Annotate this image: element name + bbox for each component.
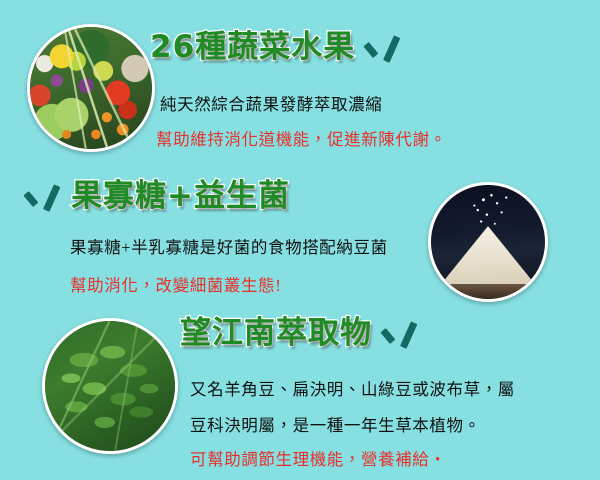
section-body-line: 純天然綜合蔬果發酵萃取濃縮 [160, 97, 382, 114]
section-body-line: 豆科決明屬，是一種一年生草本植物。 [190, 418, 481, 435]
green-leaves-photo-inner [45, 321, 175, 451]
section-heading-fructooligosaccharide-probiotics: 果寡糖+益生菌 [29, 181, 290, 212]
leaf-stems-overlay [45, 321, 175, 451]
mixed-vegetables-photo-inner [30, 27, 152, 149]
section-heading-label: 望江南萃取物 [180, 318, 372, 349]
section-heading-label: 果寡糖+益生菌 [71, 181, 290, 212]
check-icon [369, 33, 399, 63]
section-body-line: 可幫助調節生理機能，營養補給‧ [190, 452, 447, 469]
ingredient-infographic-poster: 26種蔬菜水果 純天然綜合蔬果發酵萃取濃縮 幫助維持消化道機能，促進新陳代謝。 … [0, 0, 600, 480]
sugar-pile-photo [428, 182, 548, 302]
sugar-pile-photo-inner [431, 185, 545, 299]
section-body-line: 又名羊角豆、扁決明、山綠豆或波布草，屬 [190, 382, 515, 399]
check-icon [386, 319, 416, 349]
check-icon [29, 182, 59, 212]
mixed-vegetables-photo [27, 24, 155, 152]
sugar-surface [431, 284, 545, 299]
green-leaves-photo [42, 318, 178, 454]
section-heading-vegetables-fruits: 26種蔬菜水果 [150, 32, 399, 63]
vegetables-stems-overlay [30, 27, 152, 149]
section-heading-label: 26種蔬菜水果 [150, 32, 355, 63]
section-heading-senna-occidentalis-extract: 望江南萃取物 [180, 318, 416, 349]
section-body-line: 幫助維持消化道機能，促進新陳代謝。 [156, 132, 447, 149]
section-body-line: 幫助消化，改變細菌叢生態! [70, 278, 281, 295]
section-body-line: 果寡糖+半乳寡糖是好菌的食物搭配納豆菌 [70, 240, 388, 257]
